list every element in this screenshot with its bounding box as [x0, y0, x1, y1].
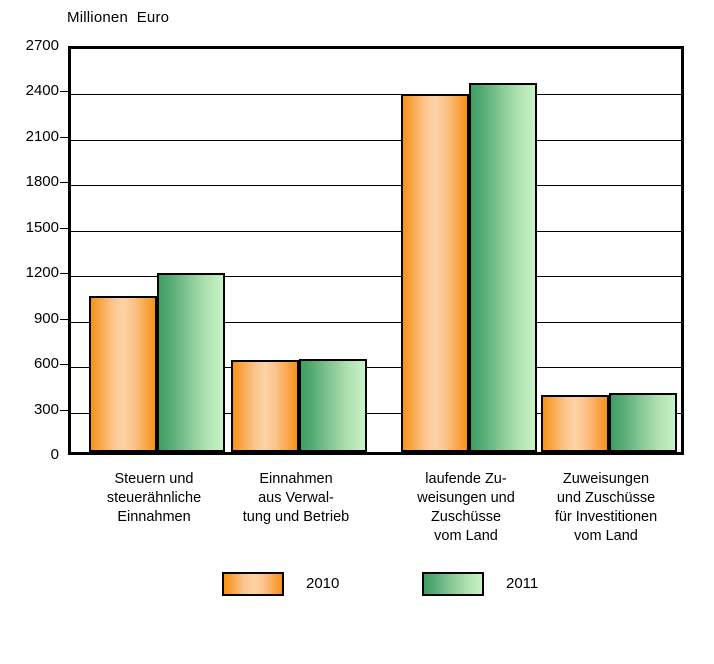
x-axis-category-label-2: Einnahmen aus Verwal- tung und Betrieb: [208, 470, 384, 527]
chart-legend: 20102011: [0, 572, 714, 612]
bar-2010-group-1: [89, 296, 157, 452]
chart-axis-title: Millionen Euro: [67, 9, 169, 26]
legend-label-2011: 2011: [506, 574, 538, 594]
y-axis-tick-label: 1800: [7, 174, 59, 189]
gridline: [71, 94, 681, 95]
gridline: [71, 140, 681, 141]
y-axis-tick-label: 1200: [7, 265, 59, 280]
bar-2011-group-3: [469, 83, 537, 452]
x-axis-category-label-4: Zuweisungen und Zuschüsse für Investitio…: [518, 470, 694, 546]
y-axis-tick-mark: [60, 228, 68, 229]
bar-2010-group-4: [541, 395, 609, 452]
y-axis-tick-mark: [60, 91, 68, 92]
y-axis-tick-mark: [60, 182, 68, 183]
y-axis-tick-mark: [60, 137, 68, 138]
y-axis-tick-label: 2700: [7, 38, 59, 53]
bar-2011-group-1: [157, 273, 225, 452]
bar-2010-group-3: [401, 94, 469, 452]
y-axis-tick-label: 0: [7, 447, 59, 462]
legend-swatch-2010: [222, 572, 284, 596]
bar-2010-group-2: [231, 360, 299, 452]
y-axis-tick-mark: [60, 319, 68, 320]
y-axis-tick-label: 2100: [7, 129, 59, 144]
plot-inner: [71, 49, 681, 452]
y-axis-tick-label: 300: [7, 402, 59, 417]
gridline: [71, 185, 681, 186]
legend-swatch-2011: [422, 572, 484, 596]
y-axis-tick-label: 1500: [7, 220, 59, 235]
bar-chart: Millionen Euro 2700240021001800150012009…: [0, 0, 714, 664]
gridline: [71, 231, 681, 232]
y-axis-tick-mark: [60, 273, 68, 274]
bar-2011-group-2: [299, 359, 367, 452]
y-axis-tick-mark: [60, 364, 68, 365]
y-axis-tick-label: 600: [7, 356, 59, 371]
y-axis-tick-mark: [60, 410, 68, 411]
y-axis-tick-label: 900: [7, 311, 59, 326]
legend-label-2010: 2010: [306, 574, 339, 594]
bar-2011-group-4: [609, 393, 677, 452]
plot-area: [68, 46, 684, 455]
y-axis-tick-label: 2400: [7, 83, 59, 98]
